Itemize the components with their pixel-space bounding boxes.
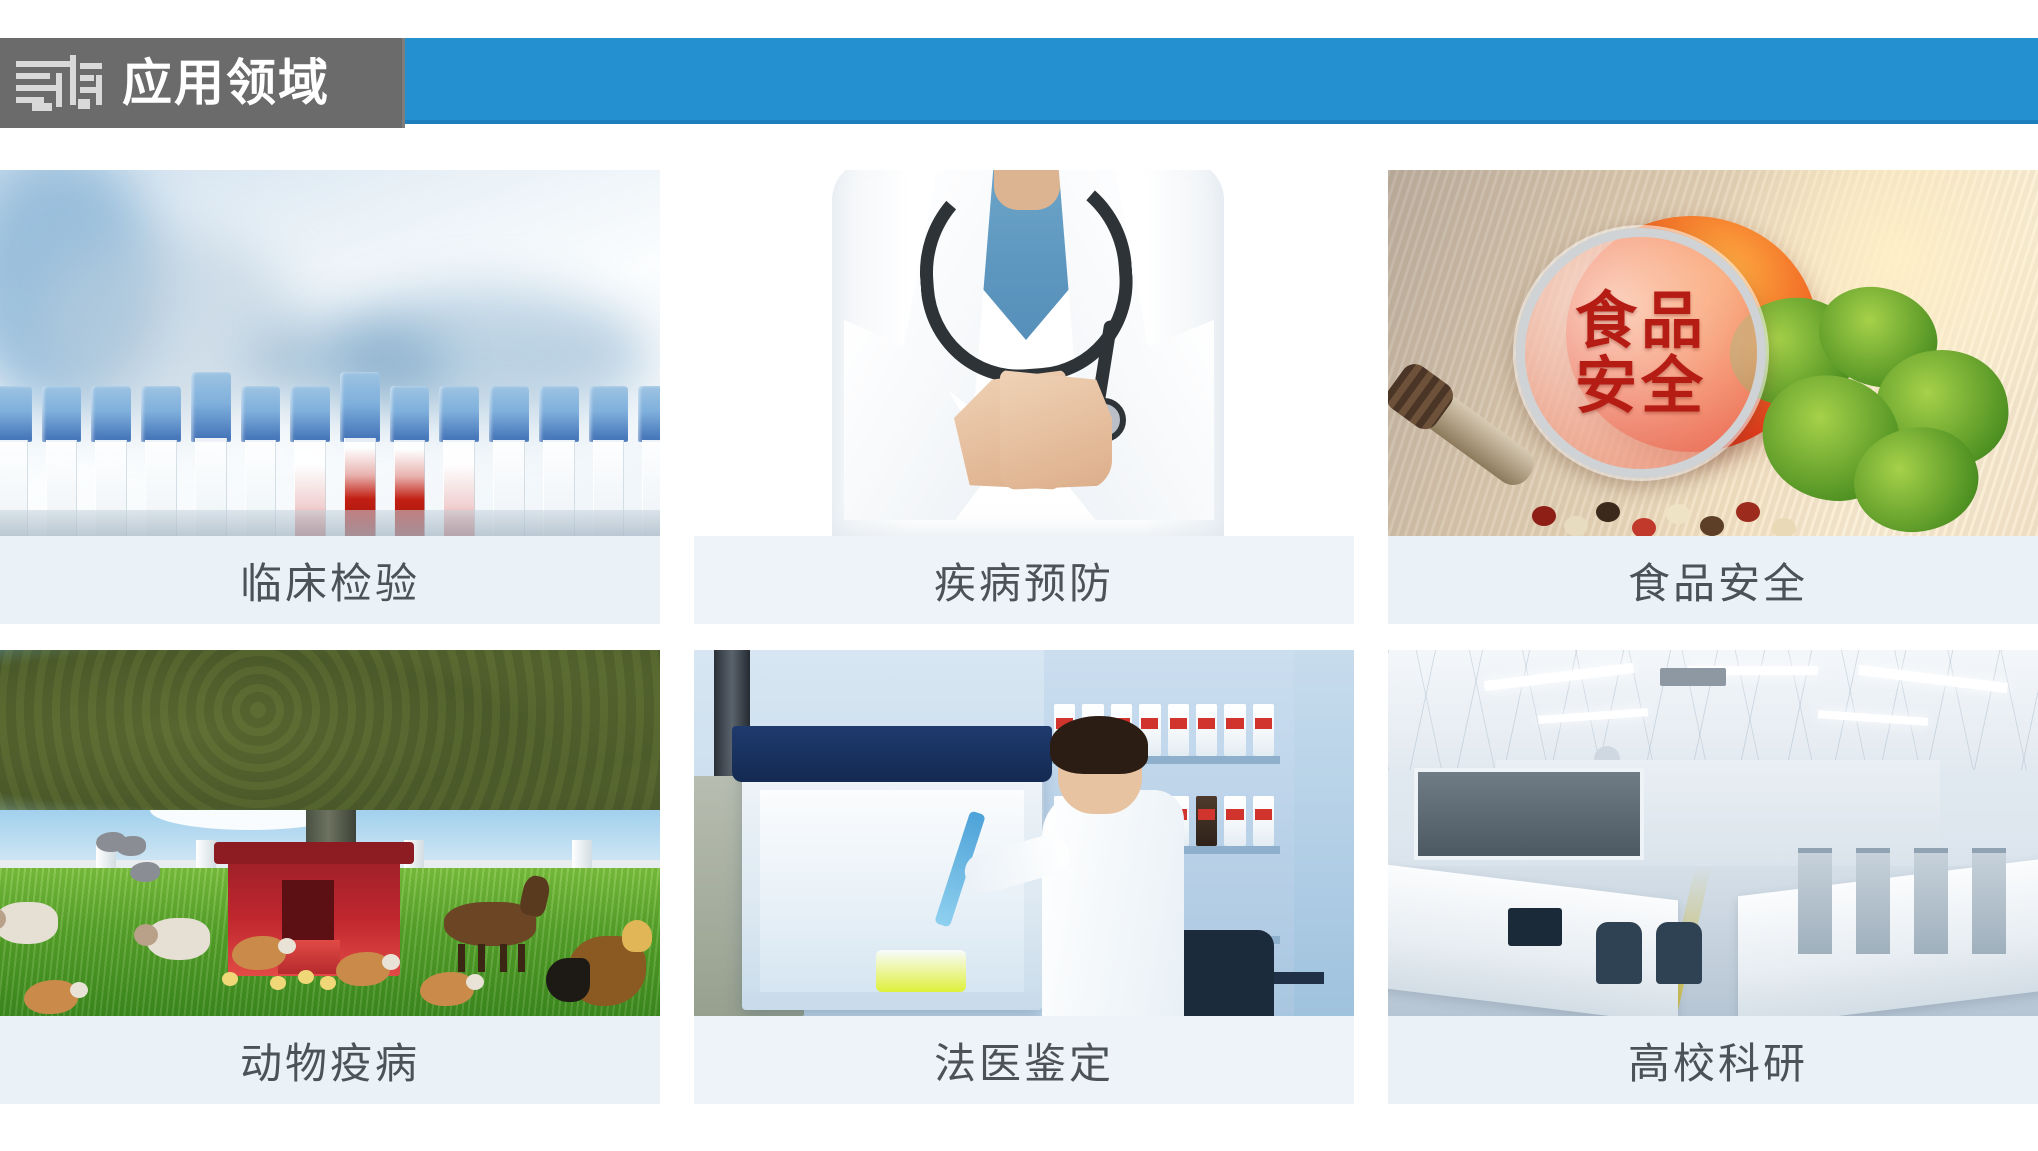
card-caption: 食品安全 — [1388, 536, 2038, 624]
overlay-line-1: 食品 — [1575, 289, 1707, 352]
cow — [0, 902, 58, 944]
doctor-heart-hands-photo — [694, 170, 1354, 536]
header-title-banner: 应用领域 — [0, 38, 405, 128]
university-laboratory-photo — [1388, 650, 2038, 1016]
magnifier-lens: 食品 安全 — [1516, 228, 1766, 478]
card-caption: 动物疫病 — [0, 1016, 660, 1104]
chick — [270, 976, 286, 990]
forensic-lab-photo — [694, 650, 1354, 1016]
page-header: 应用领域 — [0, 38, 2038, 128]
horse — [444, 902, 536, 946]
blood-collection-tubes-photo — [0, 170, 660, 536]
chick — [298, 970, 314, 984]
lab-instrument-icon — [12, 51, 108, 115]
card-clinical-testing[interactable]: 临床检验 — [0, 170, 660, 624]
pigeon — [116, 836, 146, 856]
card-caption: 高校科研 — [1388, 1016, 2038, 1104]
card-animal-disease[interactable]: 动物疫病 — [0, 650, 660, 1104]
card-disease-prevention[interactable]: 疾病预防 — [694, 170, 1354, 624]
application-fields-grid: 临床检验 疾病预防 — [0, 170, 2038, 1130]
pigeon — [130, 862, 160, 882]
hen — [420, 972, 474, 1006]
hen — [24, 980, 78, 1014]
lab-technician — [1042, 790, 1184, 1016]
hen — [232, 936, 286, 970]
overlay-line-2: 安全 — [1575, 354, 1707, 417]
food-safety-magnifier-photo: 食品 安全 — [1388, 170, 2038, 536]
page-title: 应用领域 — [122, 58, 330, 108]
sheep — [146, 918, 210, 960]
chick — [320, 976, 336, 990]
card-forensic-identification[interactable]: 法医鉴定 — [694, 650, 1354, 1104]
card-caption: 临床检验 — [0, 536, 660, 624]
card-university-research[interactable]: 高校科研 — [1388, 650, 2038, 1104]
card-food-safety[interactable]: 食品 安全 食品安全 — [1388, 170, 2038, 624]
hen — [336, 952, 390, 986]
farm-animals-photo — [0, 650, 660, 1016]
chick — [222, 972, 238, 986]
card-caption: 法医鉴定 — [694, 1016, 1354, 1104]
card-caption: 疾病预防 — [694, 536, 1354, 624]
